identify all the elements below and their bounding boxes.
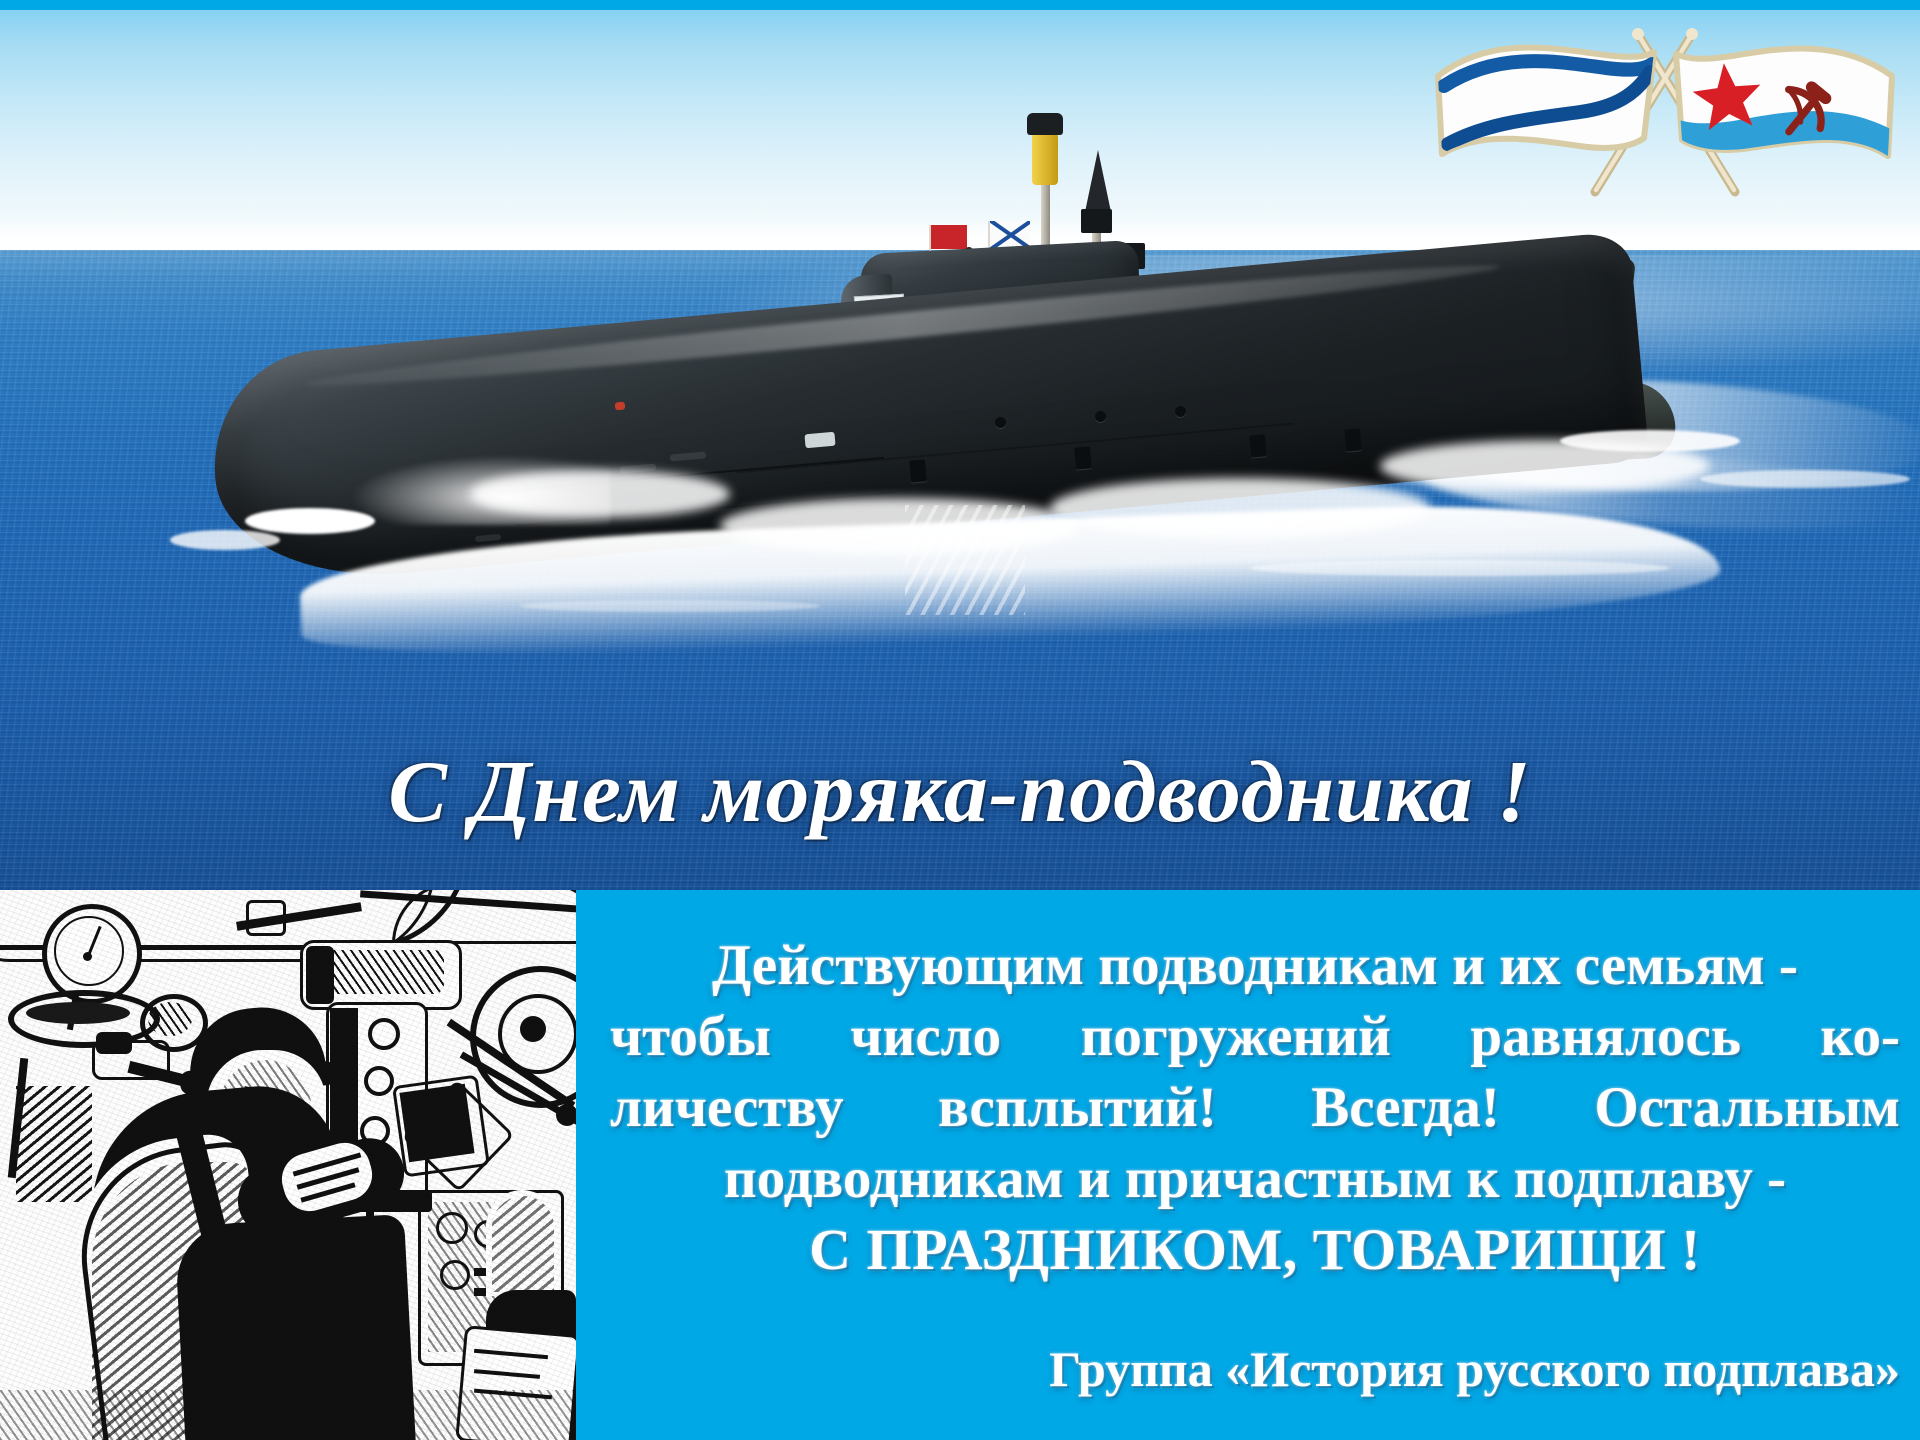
foam-crest [1560,430,1740,452]
machinery-bolt [556,1104,576,1126]
stand-post [400,1360,405,1440]
foam-patch [470,470,730,518]
floor-shading [0,1390,576,1440]
second-crewman-shading [492,1196,554,1292]
radar-mast-block [1081,209,1112,233]
overhead-arc [392,890,576,944]
crossed-naval-flags-emblem [1430,14,1900,199]
foam-patch [720,498,1080,554]
gauge-hub [83,952,92,961]
background-shading [16,1086,92,1202]
foam-crest [245,508,375,534]
hull-vent [1344,428,1362,451]
radar-mast-cone [1085,150,1111,212]
foam-patch [1050,478,1430,538]
pipe-flange [246,900,286,936]
panel-dial [440,1260,470,1290]
periscope-head [1032,133,1058,185]
message-line-3: личеству всплытий! Всегда! Остальным [610,1072,1900,1143]
hull-vent [1074,446,1092,469]
foam-crest [520,600,820,612]
page-title: С Днем моряка-подводника ! [0,742,1920,843]
message-line-4: подводникам и причастным к подплаву - [610,1143,1900,1214]
foam-crest [170,530,280,550]
valve-wheel-shadow [26,1002,130,1024]
periscope-knob [368,1018,400,1050]
submariner-periscope-illustration [0,890,576,1440]
periscope-knob [364,1066,394,1096]
valve-wheel-hatch [148,1002,192,1036]
machinery-hub [520,1016,546,1042]
greeting-poster: С Днем моряка-подводника ! [0,0,1920,1440]
message-line-2: чтобы число погружений равнялось ко- [610,1001,1900,1072]
message-line-1: Действующим подводникам и их семьям - [610,930,1900,1001]
top-accent-strip [0,0,1920,10]
hull-red-marker [615,402,626,411]
foam-crest [1700,470,1910,488]
red-flag [931,225,967,249]
housing-end-cap [306,946,334,1004]
hull-vent [1249,434,1267,457]
periscope-cap [1027,113,1063,135]
foam-crest [1250,560,1670,576]
greeting-message: Действующим подводникам и их семьям - чт… [610,930,1900,1285]
panel-dial [436,1212,468,1244]
group-signature: Группа «История русского подплава» [610,1340,1900,1398]
hull-hatch-light [804,432,835,449]
hull-vent [909,459,927,482]
message-line-5: С ПРАЗДНИКОМ, ТОВАРИЩИ ! [610,1214,1900,1285]
